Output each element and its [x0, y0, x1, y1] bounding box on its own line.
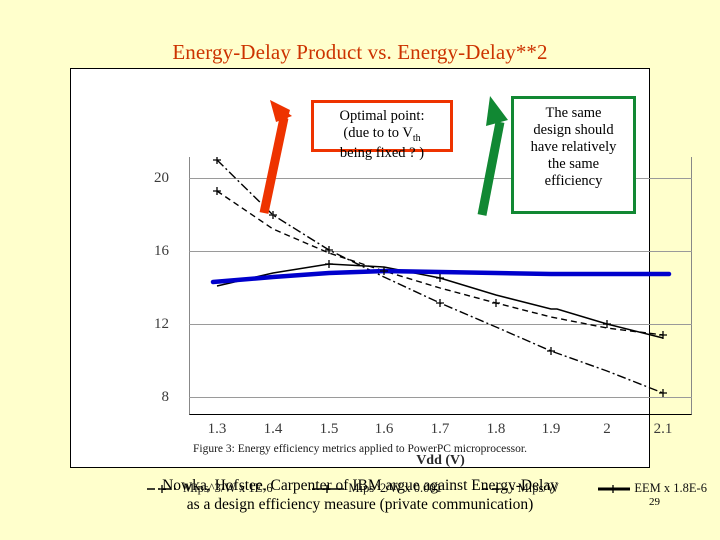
ytick-label-16: 16	[133, 243, 169, 260]
ytick-label-20: 20	[133, 170, 169, 187]
ytick-label-12: 12	[133, 316, 169, 333]
slide-note-line2: as a design efficiency measure (private …	[60, 495, 660, 514]
ytick-label-8: 8	[133, 389, 169, 406]
xtick-label-7: 1.9	[526, 421, 576, 438]
callout-optimal-line3: being fixed ? )	[314, 145, 450, 162]
callout-optimal-line2-text: (due to to V	[343, 125, 412, 141]
series-eem-line	[213, 271, 669, 282]
xaxis-label: Vdd (V)	[189, 453, 692, 469]
callout-efficiency: The same design should have relatively t…	[511, 96, 636, 214]
callout-optimal-line2: (due to to Vth	[314, 125, 450, 145]
callout-optimal-line2-sub: th	[413, 133, 421, 144]
xtick-label-8: 2	[582, 421, 632, 438]
page-number: 29	[649, 496, 660, 508]
callout-optimal-line1: Optimal point:	[314, 108, 450, 125]
figure-caption: Figure 3: Energy efficiency metrics appl…	[70, 443, 650, 455]
callout-efficiency-line4: the same	[514, 156, 633, 173]
xtick-label-3: 1.5	[304, 421, 354, 438]
callout-efficiency-line3: have relatively	[514, 139, 633, 156]
slide-note-line1: Nowka, Hofstee, Carpenter of IBM argue a…	[60, 476, 660, 495]
callout-efficiency-line5: efficiency	[514, 173, 633, 190]
page-title: Energy-Delay Product vs. Energy-Delay**2	[0, 40, 720, 65]
xtick-label-1: 1.3	[192, 421, 242, 438]
xtick-label-9: 2.1	[638, 421, 688, 438]
xtick-label-2: 1.4	[248, 421, 298, 438]
slide-note: Nowka, Hofstee, Carpenter of IBM argue a…	[60, 476, 660, 515]
callout-efficiency-line1: The same	[514, 105, 633, 122]
xtick-label-5: 1.7	[415, 421, 465, 438]
callout-efficiency-line2: design should	[514, 122, 633, 139]
xtick-label-4: 1.6	[359, 421, 409, 438]
callout-optimal-point: Optimal point: (due to to Vth being fixe…	[311, 100, 453, 152]
xtick-label-6: 1.8	[471, 421, 521, 438]
